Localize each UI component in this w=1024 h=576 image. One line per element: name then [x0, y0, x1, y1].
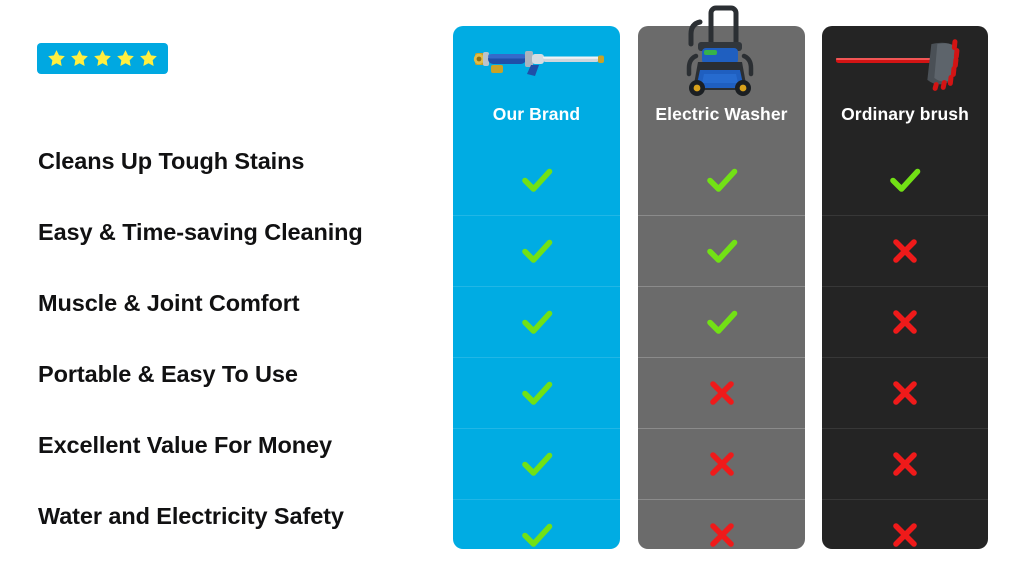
cell-check — [638, 286, 805, 357]
column-title: Our Brand — [453, 104, 620, 125]
check-icon — [702, 231, 742, 271]
check-icon — [517, 515, 557, 550]
check-icon — [885, 160, 925, 200]
cell-cross — [822, 499, 988, 549]
cell-cross — [822, 428, 988, 499]
check-icon — [702, 160, 742, 200]
cell-cross — [638, 357, 805, 428]
cell-cross — [822, 286, 988, 357]
check-icon — [517, 231, 557, 271]
cross-icon — [702, 373, 742, 413]
cross-icon — [702, 444, 742, 484]
cross-icon — [702, 515, 742, 550]
column-ordinary-brush[interactable]: Ordinary brush — [822, 26, 988, 549]
check-icon — [517, 373, 557, 413]
comparison-columns: Our BrandElectric WasherOrdinary brush — [0, 0, 1024, 576]
cross-icon — [885, 444, 925, 484]
check-icon — [517, 160, 557, 200]
column-title: Ordinary brush — [822, 104, 988, 125]
cell-check — [638, 144, 805, 215]
check-icon — [517, 160, 557, 200]
cell-cross — [638, 499, 805, 549]
check-icon — [517, 444, 557, 484]
column-electric-washer[interactable]: Electric Washer — [638, 26, 805, 549]
cross-icon — [885, 373, 925, 413]
check-icon — [517, 515, 557, 550]
cross-icon — [885, 515, 925, 550]
cell-check — [453, 499, 620, 549]
cross-icon — [885, 444, 925, 484]
check-icon — [517, 373, 557, 413]
column-our-brand[interactable]: Our Brand — [453, 26, 620, 549]
check-icon — [702, 302, 742, 342]
cell-check — [638, 215, 805, 286]
check-icon — [702, 302, 742, 342]
cross-icon — [885, 302, 925, 342]
cell-cross — [822, 215, 988, 286]
column-cells — [453, 144, 620, 549]
comparison-chart-page: Cleans Up Tough StainsEasy & Time-saving… — [0, 0, 1024, 576]
cell-check — [453, 215, 620, 286]
cross-icon — [885, 231, 925, 271]
check-icon — [517, 302, 557, 342]
cell-cross — [822, 357, 988, 428]
cross-icon — [885, 302, 925, 342]
cell-check — [453, 357, 620, 428]
cell-check — [453, 428, 620, 499]
cell-check — [453, 286, 620, 357]
cross-icon — [702, 515, 742, 550]
cell-check — [822, 144, 988, 215]
cross-icon — [885, 231, 925, 271]
check-icon — [517, 231, 557, 271]
check-icon — [517, 302, 557, 342]
cell-check — [453, 144, 620, 215]
check-icon — [702, 231, 742, 271]
cell-cross — [638, 428, 805, 499]
column-title: Electric Washer — [638, 104, 805, 125]
cross-icon — [702, 444, 742, 484]
check-icon — [885, 160, 925, 200]
column-cells — [822, 144, 988, 549]
cross-icon — [702, 373, 742, 413]
cross-icon — [885, 373, 925, 413]
column-cells — [638, 144, 805, 549]
cross-icon — [885, 515, 925, 550]
check-icon — [517, 444, 557, 484]
check-icon — [702, 160, 742, 200]
